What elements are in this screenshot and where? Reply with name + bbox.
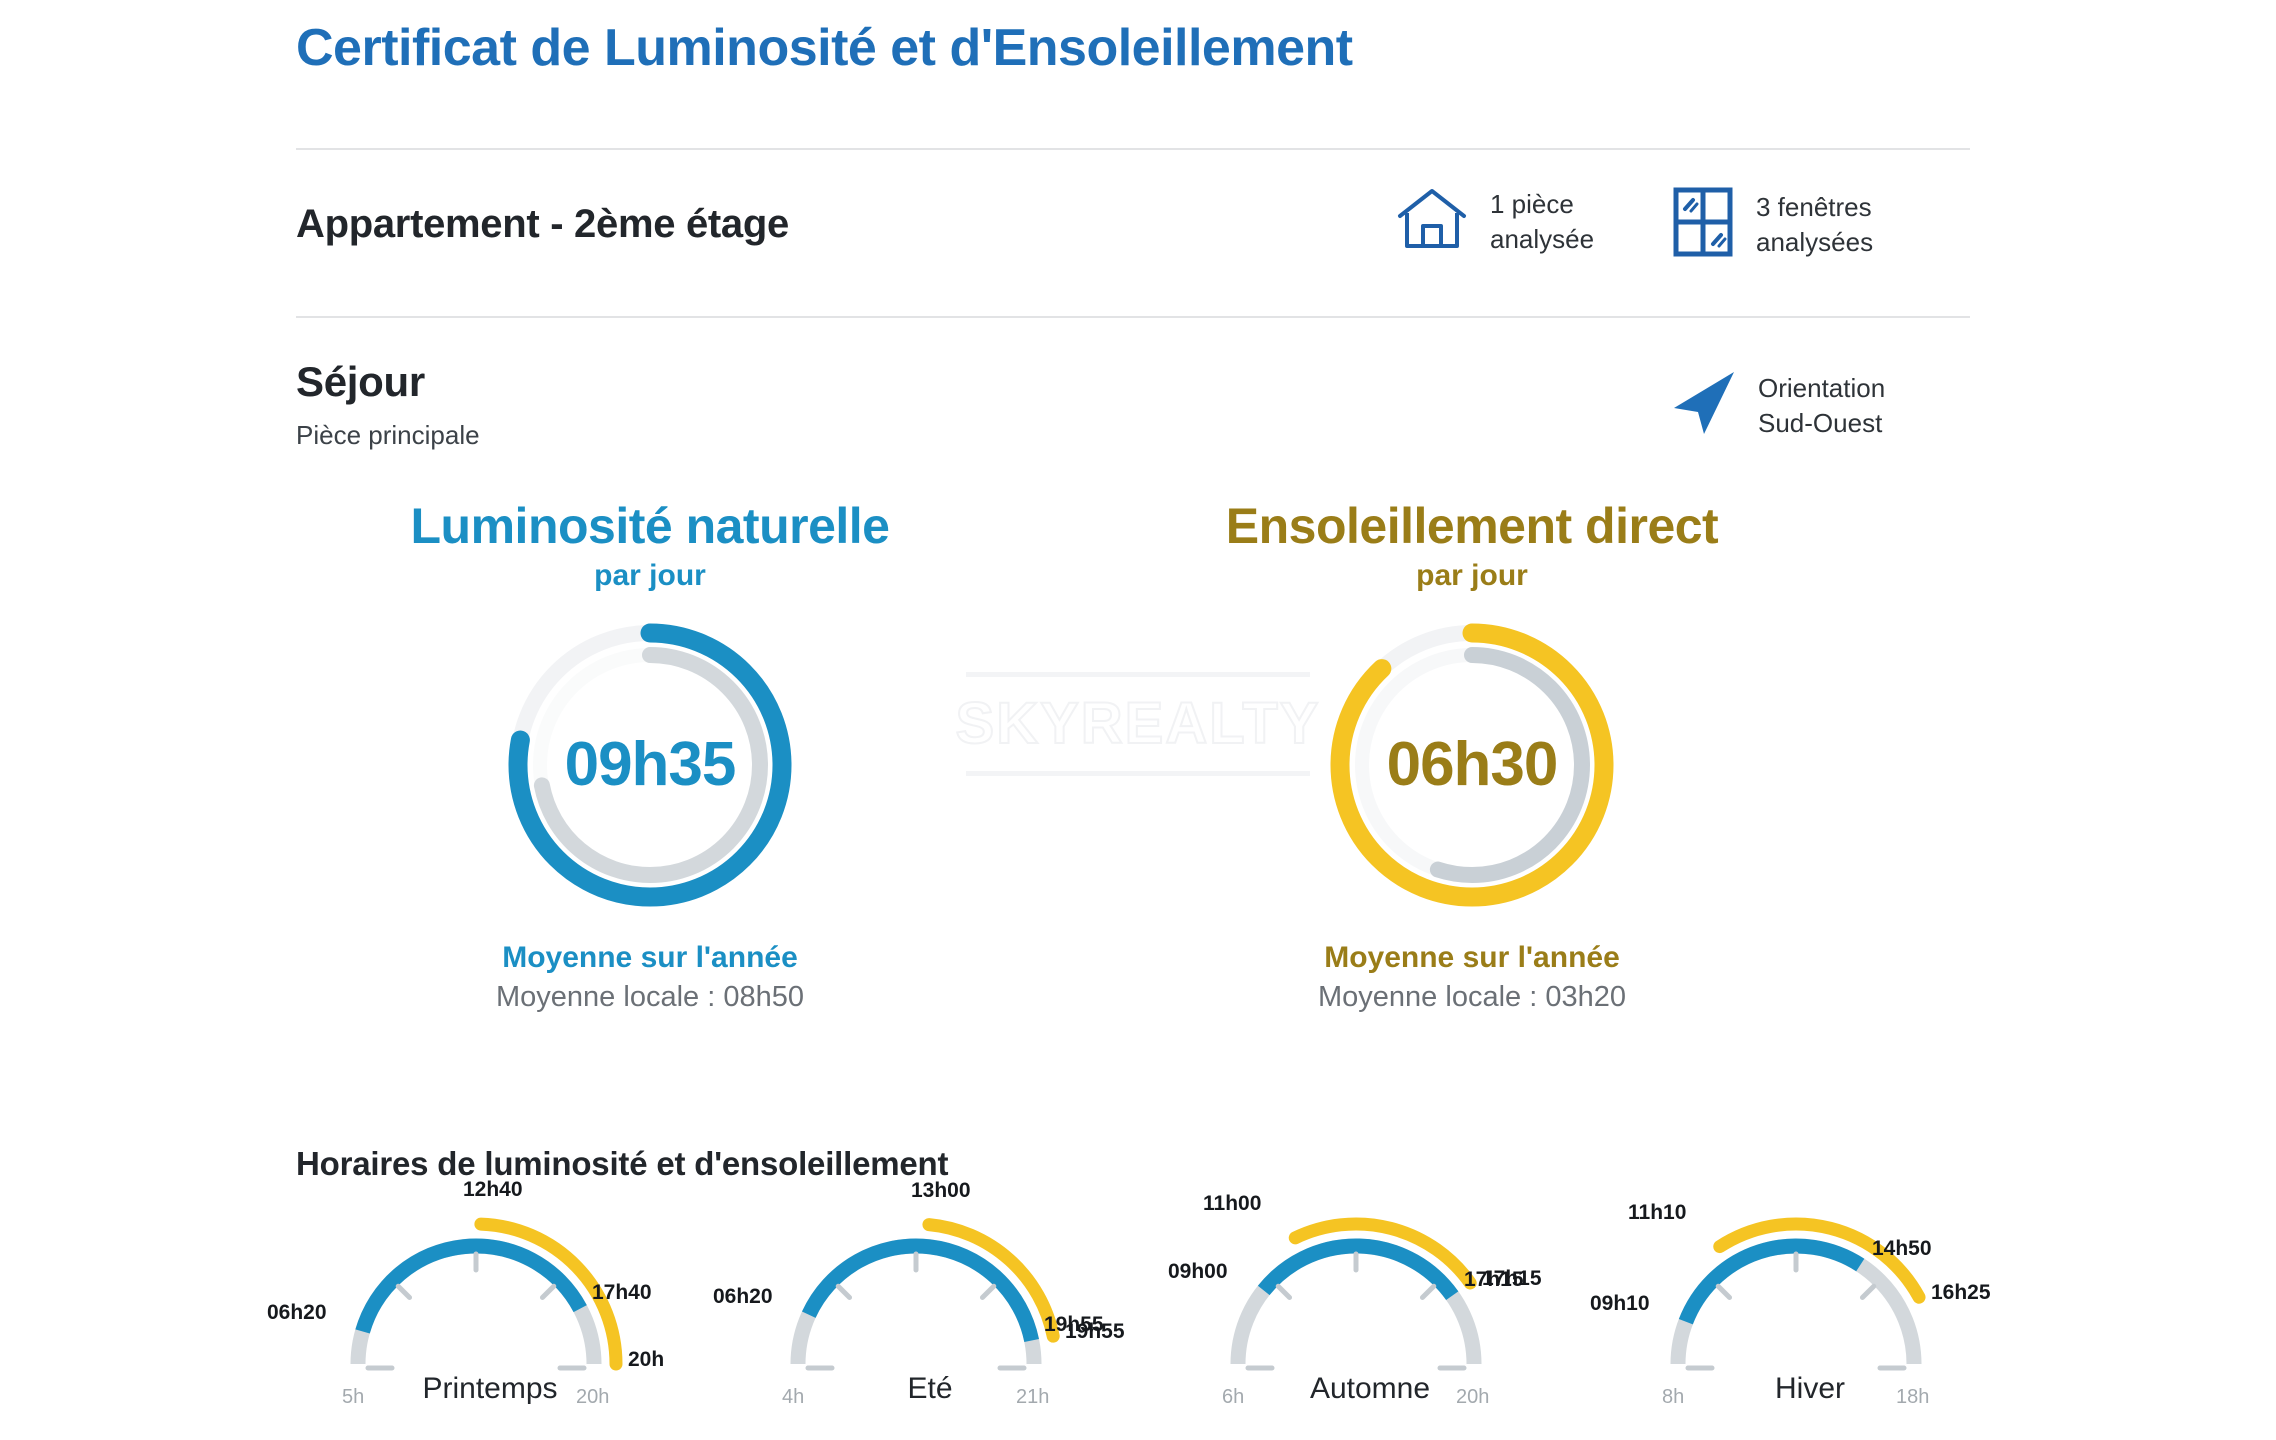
window-icon bbox=[1672, 186, 1734, 263]
season-gauge: 06h20 17h40 12h40 20h 5h 20h Printemps bbox=[280, 1212, 700, 1427]
season-name: Automne bbox=[1160, 1372, 1580, 1406]
gauge-ensoleillement-subtitle: par jour bbox=[1162, 559, 1782, 593]
season-light-start-label: 06h20 bbox=[267, 1301, 327, 1325]
stat-windows-line1: 3 fenêtres bbox=[1756, 190, 1873, 224]
divider-mid bbox=[296, 316, 1970, 318]
season-name: Eté bbox=[720, 1372, 1140, 1406]
season-sun-end-label: 17h15 bbox=[1482, 1267, 1542, 1291]
orientation-text: Orientation Sud-Ouest bbox=[1758, 371, 1885, 440]
season-gauge: 06h20 19h55 13h00 19h55 4h 21h Eté bbox=[720, 1212, 1140, 1427]
gauge-luminosite: Luminosité naturelle par jour 09h35 Moye… bbox=[340, 500, 960, 1014]
stat-windows-text: 3 fenêtres analysées bbox=[1756, 190, 1873, 259]
gauge-luminosite-title: Luminosité naturelle bbox=[340, 500, 960, 553]
gauge-ensoleillement-average-label: Moyenne sur l'année bbox=[1162, 941, 1782, 975]
schedule-title: Horaires de luminosité et d'ensoleilleme… bbox=[296, 1145, 948, 1183]
season-light-end-label: 14h50 bbox=[1872, 1237, 1932, 1261]
gauge-luminosite-ring: 09h35 bbox=[500, 615, 800, 915]
gauge-ensoleillement-title: Ensoleillement direct bbox=[1162, 500, 1782, 553]
season-light-start-label: 09h10 bbox=[1590, 1292, 1650, 1316]
gauge-ensoleillement: Ensoleillement direct par jour 06h30 Moy… bbox=[1162, 500, 1782, 1014]
stat-rooms-line1: 1 pièce bbox=[1490, 187, 1594, 221]
orientation-arrow-icon bbox=[1668, 368, 1740, 443]
property-title: Appartement - 2ème étage bbox=[296, 202, 789, 247]
gauge-ensoleillement-ring: 06h30 bbox=[1322, 615, 1622, 915]
stat-windows: 3 fenêtres analysées bbox=[1672, 186, 1873, 263]
house-icon bbox=[1396, 186, 1468, 257]
orientation-value: Sud-Ouest bbox=[1758, 406, 1885, 441]
room-subtitle: Pièce principale bbox=[296, 420, 480, 451]
season-gauge-svg bbox=[1160, 1212, 1580, 1387]
season-sun-start-label: 11h10 bbox=[1628, 1201, 1686, 1225]
divider-top bbox=[296, 148, 1970, 150]
orientation-block: Orientation Sud-Ouest bbox=[1668, 368, 1885, 443]
orientation-label: Orientation bbox=[1758, 371, 1885, 406]
season-gauge: 09h00 17h15 11h00 17h15 6h 20h Automne bbox=[1160, 1212, 1580, 1427]
season-sun-start-label: 11h00 bbox=[1203, 1192, 1261, 1216]
stat-rooms: 1 pièce analysée bbox=[1396, 186, 1594, 257]
season-gauge-list: 06h20 17h40 12h40 20h 5h 20h Printemps 0… bbox=[280, 1212, 2020, 1427]
season-name: Printemps bbox=[280, 1372, 700, 1406]
room-title: Séjour bbox=[296, 358, 425, 406]
season-sun-end-label: 19h55 bbox=[1065, 1320, 1125, 1344]
season-name: Hiver bbox=[1600, 1372, 2020, 1406]
season-sun-start-label: 13h00 bbox=[911, 1179, 971, 1203]
season-light-start-label: 09h00 bbox=[1168, 1260, 1228, 1284]
season-gauge-svg bbox=[720, 1212, 1140, 1387]
season-sun-end-label: 20h bbox=[628, 1348, 664, 1372]
season-sun-end-label: 16h25 bbox=[1931, 1281, 1991, 1305]
season-gauge: 09h10 14h50 11h10 16h25 8h 18h Hiver bbox=[1600, 1212, 2020, 1427]
stat-rooms-text: 1 pièce analysée bbox=[1490, 187, 1594, 256]
season-sun-start-label: 12h40 bbox=[463, 1178, 523, 1202]
stat-windows-line2: analysées bbox=[1756, 225, 1873, 259]
gauge-luminosite-value: 09h35 bbox=[500, 615, 800, 915]
page-title: Certificat de Luminosité et d'Ensoleille… bbox=[296, 18, 1353, 78]
gauge-ensoleillement-local-label: Moyenne locale : 03h20 bbox=[1162, 981, 1782, 1014]
gauge-luminosite-average-label: Moyenne sur l'année bbox=[340, 941, 960, 975]
gauge-luminosite-local-label: Moyenne locale : 08h50 bbox=[340, 981, 960, 1014]
stat-rooms-line2: analysée bbox=[1490, 222, 1594, 256]
certificate-page: Certificat de Luminosité et d'Ensoleille… bbox=[0, 0, 2276, 1440]
season-light-end-label: 17h40 bbox=[592, 1281, 652, 1305]
season-light-start-label: 06h20 bbox=[713, 1285, 773, 1309]
gauge-luminosite-subtitle: par jour bbox=[340, 559, 960, 593]
gauge-ensoleillement-value: 06h30 bbox=[1322, 615, 1622, 915]
